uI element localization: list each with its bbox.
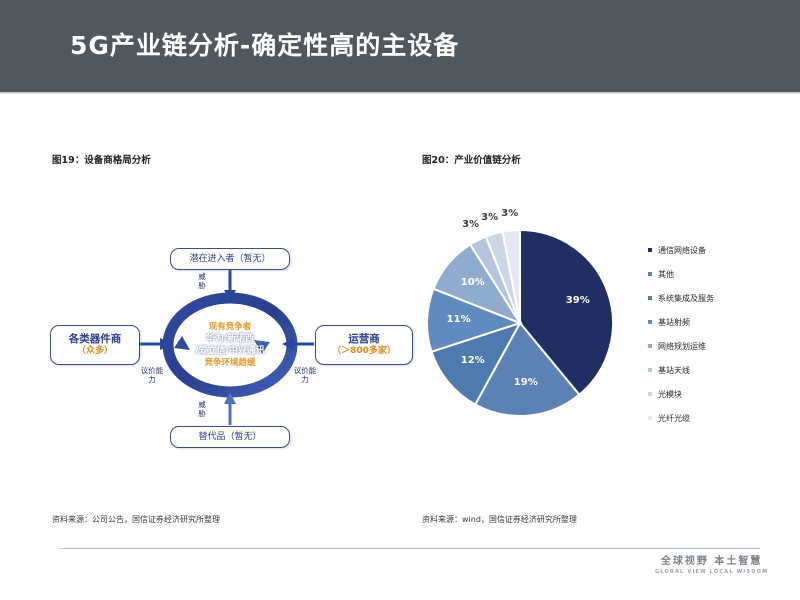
legend-item[interactable]: 光纤光缆 — [648, 406, 788, 430]
legend-swatch — [648, 296, 652, 300]
force-box-suppliers-label: 各类器件商 — [69, 333, 122, 345]
legend-swatch — [648, 368, 652, 372]
legend-label: 通信网络设备 — [658, 245, 706, 256]
force-box-new-entrants-label: 潜在进入者（暂无） — [189, 253, 270, 265]
footer-divider — [60, 548, 760, 549]
arrow-label-threat-bottom: 威胁 — [196, 400, 208, 418]
arrow-label-bargaining-right: 议价能力 — [293, 366, 317, 384]
legend-label: 光模块 — [658, 389, 682, 400]
legend-label: 网络规划运维 — [658, 341, 706, 352]
ring-center: 现有竞争者 华为/新诺西 /爱立信/中兴通讯 竞争环境趋缓 — [162, 295, 298, 395]
force-box-suppliers[interactable]: 各类器件商 （众多） — [50, 325, 140, 365]
value-chain-pie-chart: 39%19%12%11%10%3%3%3% — [405, 215, 635, 435]
legend-swatch — [648, 320, 652, 324]
footer-slogan-en: GLOBAL VIEW LOCAL WISDOM — [655, 568, 768, 576]
ring-line-vendors-1: 华为/新诺西 — [206, 333, 254, 345]
ring-line-incumbents: 现有竞争者 — [209, 321, 252, 333]
header-divider — [0, 92, 800, 94]
legend-swatch — [648, 344, 652, 348]
figure-caption-left: 图19：设备商格局分析 — [52, 152, 151, 166]
source-note-right: 资料来源：wind，国信证券经济研究所整理 — [422, 514, 577, 525]
force-box-new-entrants[interactable]: 潜在进入者（暂无） — [170, 248, 290, 270]
legend-label: 系统集成及服务 — [658, 293, 714, 304]
force-box-suppliers-sublabel: （众多） — [77, 345, 113, 357]
page-title: 5G产业链分析-确定性高的主设备 — [70, 26, 459, 62]
arrow-label-threat-top: 威胁 — [196, 272, 208, 290]
pie-slice-value: 12% — [460, 355, 486, 366]
legend-label: 基站射频 — [658, 317, 690, 328]
legend-swatch — [648, 248, 652, 252]
footer-logo: 全球视野 本土智慧 GLOBAL VIEW LOCAL WISDOM — [655, 556, 768, 576]
legend-swatch — [648, 392, 652, 396]
force-box-substitutes-label: 替代品（暂无） — [198, 431, 261, 443]
arrow-label-bargaining-left: 议价能力 — [140, 366, 164, 384]
figure-caption-right: 图20：产业价值链分析 — [422, 152, 521, 166]
pie-slice-value: 11% — [446, 314, 472, 325]
legend-item[interactable]: 光模块 — [648, 382, 788, 406]
pie-svg — [405, 215, 635, 435]
pie-slice-value: 19% — [513, 377, 539, 388]
pie-slice-value: 3% — [497, 208, 523, 219]
legend-label: 基站天线 — [658, 365, 690, 376]
force-box-buyers[interactable]: 运营商 （＞800多家） — [315, 325, 413, 365]
source-note-left: 资料来源：公司公告，国信证券经济研究所整理 — [52, 514, 220, 525]
legend-swatch — [648, 272, 652, 276]
pie-legend: 通信网络设备 其他 系统集成及服务 基站射频 网络规划运维 基站天线 光模块 — [648, 238, 788, 430]
legend-item[interactable]: 基站天线 — [648, 358, 788, 382]
legend-label: 其他 — [658, 269, 674, 280]
pie-slice-value: 10% — [460, 277, 486, 288]
force-box-buyers-label: 运营商 — [348, 333, 380, 345]
legend-label: 光纤光缆 — [658, 413, 690, 424]
legend-item[interactable]: 通信网络设备 — [648, 238, 788, 262]
slide-root: 5G产业链分析-确定性高的主设备 图19：设备商格局分析 图20：产业价值链分析 — [0, 0, 800, 600]
legend-item[interactable]: 其他 — [648, 262, 788, 286]
slide-header: 5G产业链分析-确定性高的主设备 — [0, 0, 800, 92]
force-box-buyers-sublabel: （＞800多家） — [332, 345, 396, 357]
legend-item[interactable]: 系统集成及服务 — [648, 286, 788, 310]
porter-five-forces-diagram: 现有竞争者 华为/新诺西 /爱立信/中兴通讯 竞争环境趋缓 潜在进入者（暂无） … — [40, 240, 420, 470]
legend-swatch — [648, 416, 652, 420]
ring-line-vendors-2: /爱立信/中兴通讯 — [195, 345, 265, 357]
legend-item[interactable]: 网络规划运维 — [648, 334, 788, 358]
ring-line-trend: 竞争环境趋缓 — [204, 357, 255, 369]
footer-slogan-cn: 全球视野 本土智慧 — [655, 556, 768, 568]
pie-slice-value: 39% — [565, 295, 591, 306]
force-box-substitutes[interactable]: 替代品（暂无） — [170, 426, 290, 448]
legend-item[interactable]: 基站射频 — [648, 310, 788, 334]
